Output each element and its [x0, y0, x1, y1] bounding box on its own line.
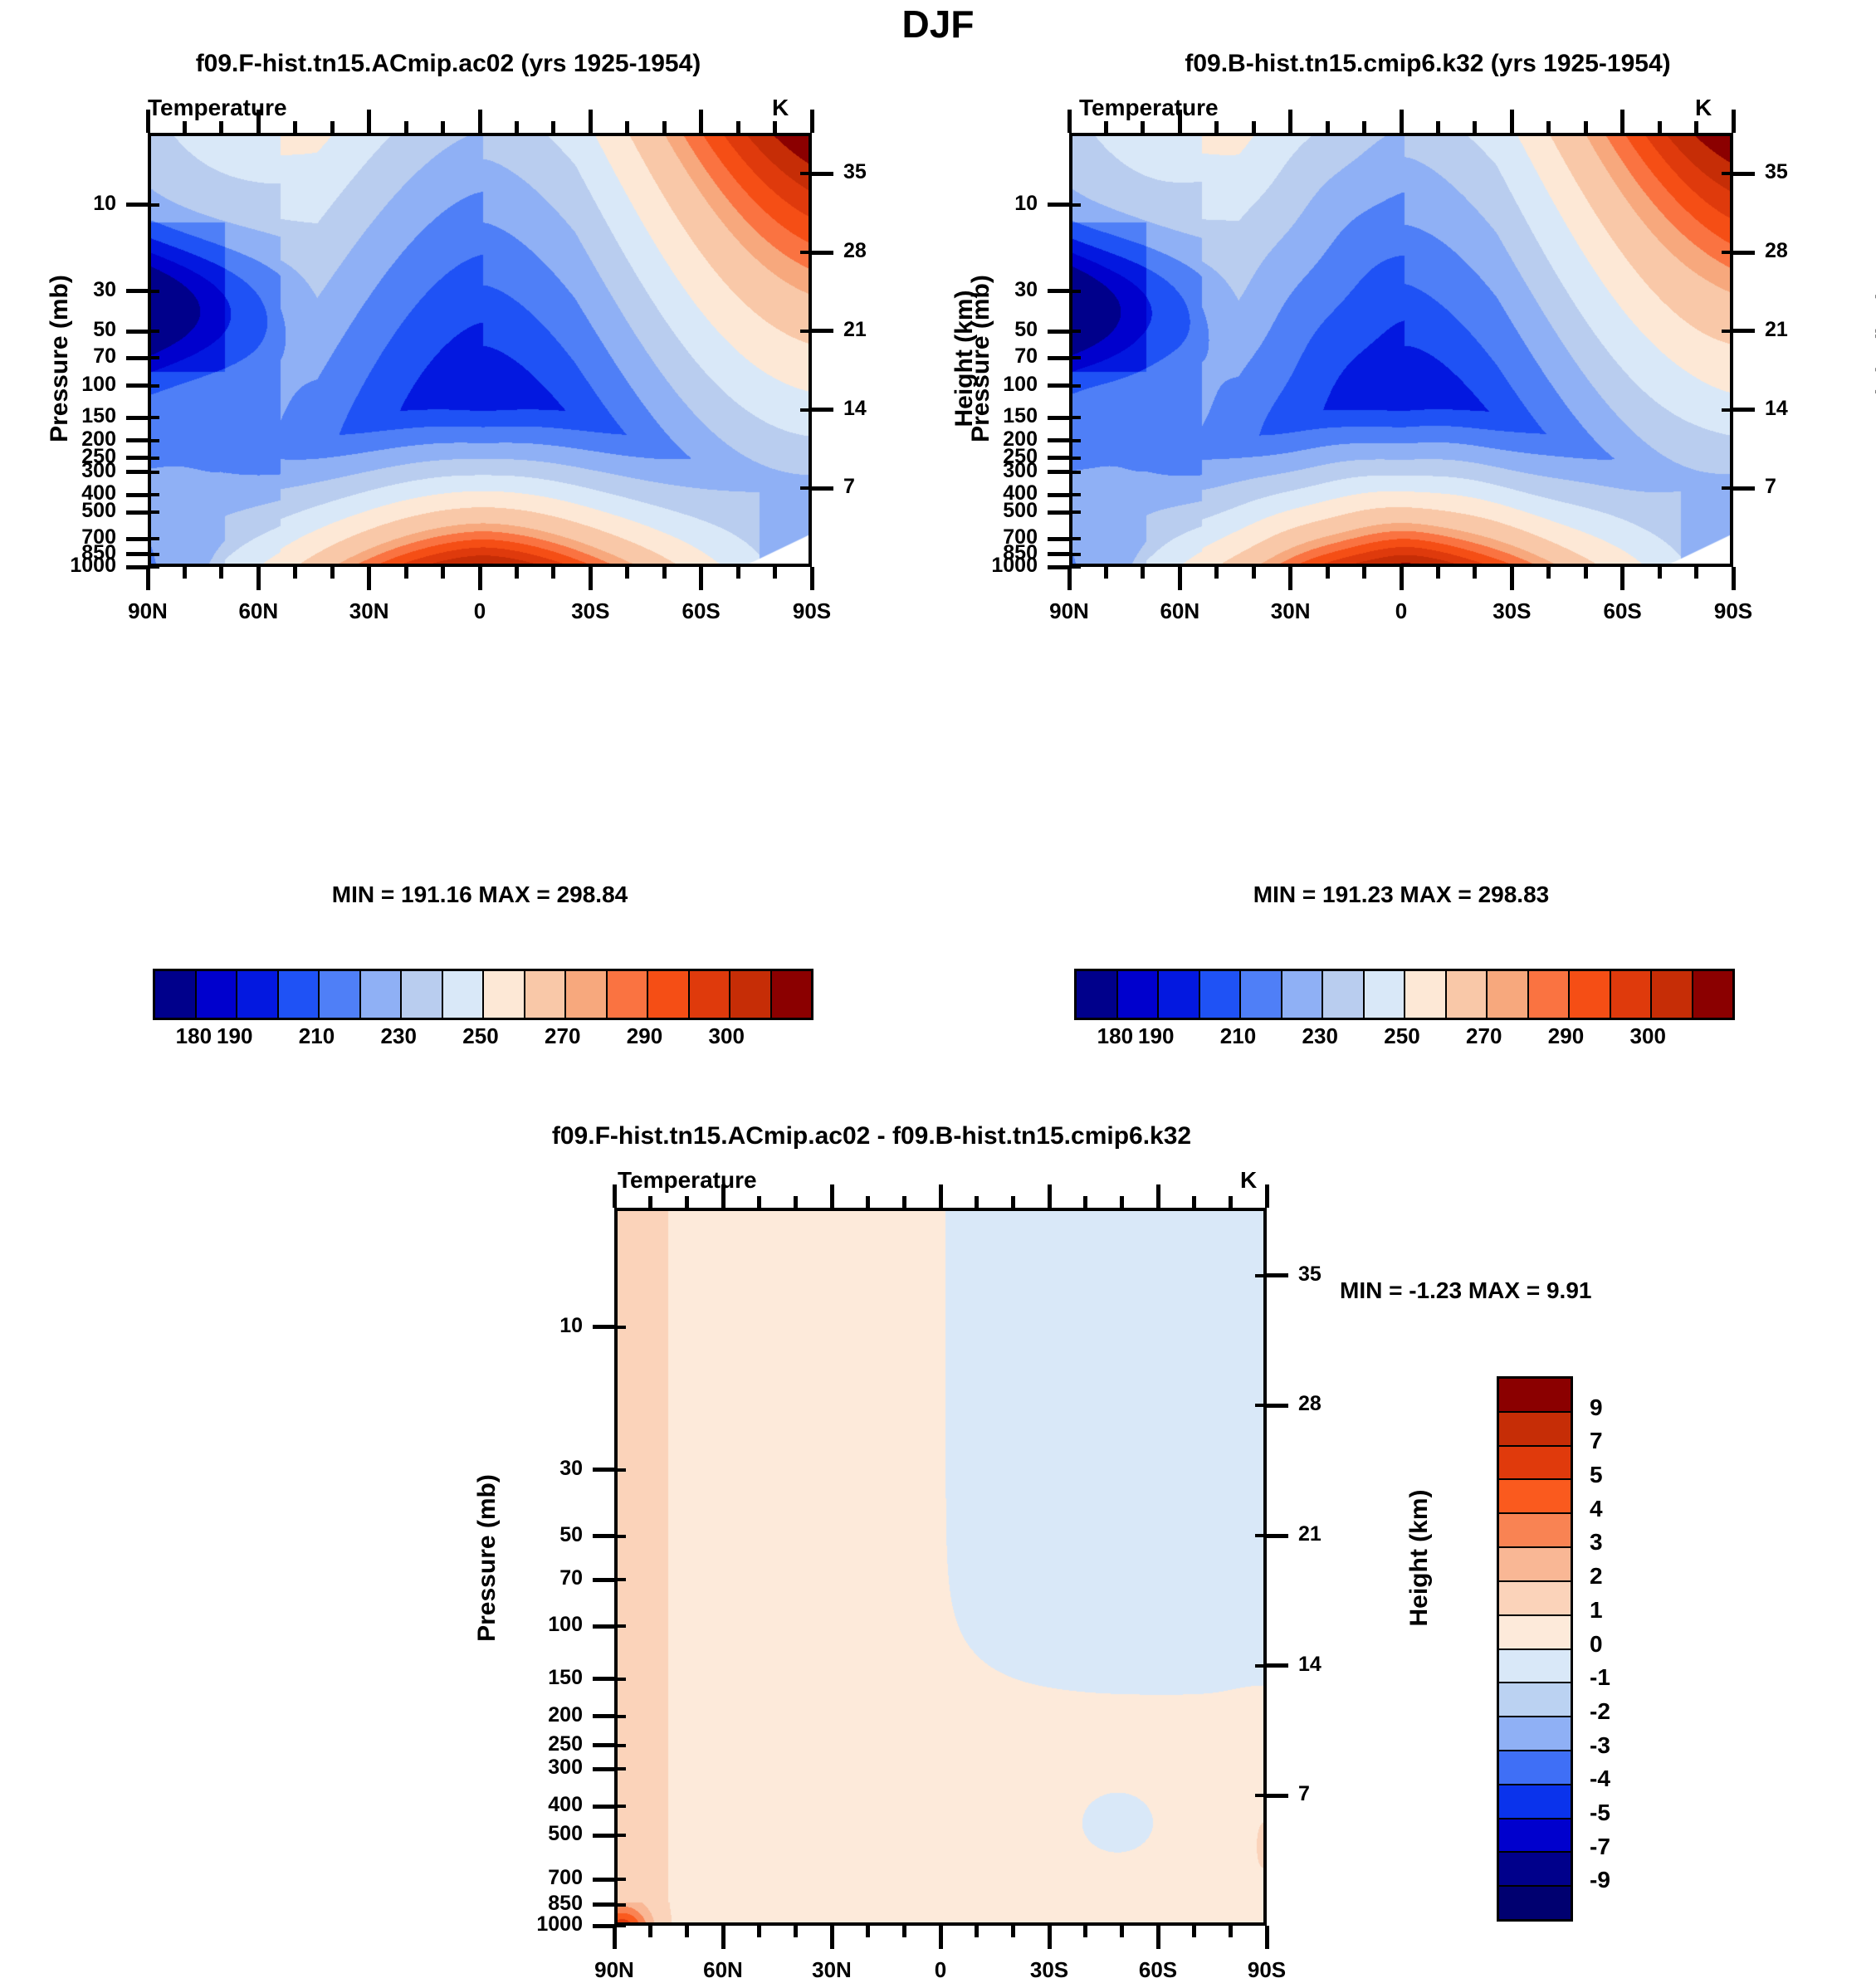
right-pressure-tick-label: 700	[911, 525, 1038, 549]
right-lat-tick-label: 90N	[1003, 598, 1136, 624]
left-colorbar[interactable]	[153, 969, 813, 1020]
left-lat-tick-label: 30N	[303, 598, 436, 624]
colorbar-tick-label: 250	[1357, 1023, 1448, 1049]
left-lat-tick	[146, 567, 150, 590]
right-pressure-axis-label: Pressure (mb)	[967, 234, 995, 483]
right-lat-top-tick	[1546, 121, 1551, 133]
diff-lat-tick	[939, 1926, 943, 1949]
left-lat-tick	[183, 567, 187, 579]
diff-lat-tick-label: 60S	[1092, 1957, 1224, 1983]
colorbar-swatch	[1499, 1480, 1571, 1514]
right-variable-label: Temperature	[1079, 95, 1219, 121]
right-colorbar-labels: 180190210230250270290300	[1074, 1023, 1730, 1057]
left-lat-tick	[662, 567, 667, 579]
right-lat-tick	[1510, 567, 1514, 590]
left-pressure-tick	[126, 470, 148, 474]
right-pressure-tick-label: 10	[911, 192, 1038, 216]
colorbar-tick-label: 210	[1193, 1023, 1283, 1049]
colorbar-swatch	[1499, 1582, 1571, 1616]
diff-lat-tick	[648, 1926, 652, 1937]
right-lat-tick	[1067, 567, 1072, 590]
diff-lat-tick	[794, 1926, 798, 1937]
diff-pressure-tick	[593, 1902, 614, 1907]
left-lat-top-tick	[589, 110, 593, 133]
left-panel-title: f09.F-hist.tn15.ACmip.ac02 (yrs 1925-195…	[50, 50, 847, 78]
right-lat-top-tick	[1362, 121, 1366, 133]
colorbar-swatch	[1282, 971, 1324, 1018]
diff-pressure-tick	[593, 1468, 614, 1472]
left-contour-plot[interactable]	[148, 133, 812, 567]
right-minmax: MIN = 191.23 MAX = 298.83	[1069, 882, 1733, 908]
diff-pressure-tick-label: 500	[457, 1822, 583, 1846]
right-lat-tick	[1400, 567, 1404, 590]
right-pressure-tick	[1048, 383, 1069, 388]
right-pressure-tick	[1048, 203, 1069, 207]
left-lat-tick	[441, 567, 445, 579]
left-pressure-tick	[126, 416, 148, 420]
left-height-tick	[812, 172, 833, 176]
colorbar-swatch	[1159, 971, 1200, 1018]
diff-pressure-tick-label: 850	[457, 1892, 583, 1916]
left-lat-tick	[330, 567, 335, 579]
colorbar-tick-label: -7	[1590, 1834, 1610, 1860]
colorbar-swatch	[566, 971, 608, 1018]
right-height-tick	[1733, 329, 1755, 333]
diff-pressure-tick	[593, 1834, 614, 1838]
left-lat-tick	[293, 567, 297, 579]
diff-lat-tick	[721, 1926, 725, 1949]
colorbar-tick-label: -2	[1590, 1698, 1610, 1725]
diff-lat-top-tick	[939, 1184, 943, 1208]
left-lat-top-tick	[551, 121, 555, 133]
diff-pressure-tick	[593, 1767, 614, 1771]
right-lat-tick	[1584, 567, 1588, 579]
right-lat-top-tick	[1436, 121, 1440, 133]
diff-lat-top-tick	[685, 1196, 689, 1208]
right-lat-tick-label: 0	[1335, 598, 1468, 624]
right-height-tick	[1733, 172, 1755, 176]
left-height-tick-label: 28	[843, 239, 926, 263]
left-lat-top-tick	[515, 121, 519, 133]
right-lat-top-tick	[1694, 121, 1698, 133]
left-lat-top-tick	[219, 121, 223, 133]
right-lat-tick	[1141, 567, 1145, 579]
right-pressure-tick	[1048, 356, 1069, 360]
right-height-tick	[1733, 408, 1755, 412]
right-height-tick-label: 7	[1765, 475, 1848, 499]
colorbar-tick-label: 300	[1603, 1023, 1693, 1049]
colorbar-swatch	[1447, 971, 1488, 1018]
diff-lat-tick	[1156, 1926, 1160, 1949]
left-lat-tick	[810, 567, 814, 590]
diff-lat-tick	[1229, 1926, 1233, 1937]
diff-height-tick	[1267, 1404, 1288, 1408]
left-lat-top-tick	[736, 121, 740, 133]
diff-pressure-tick	[593, 1805, 614, 1809]
colorbar-swatch	[1499, 1819, 1571, 1854]
diff-height-tick	[1267, 1534, 1288, 1538]
colorbar-tick-label: 7	[1590, 1428, 1603, 1454]
colorbar-swatch	[1499, 1447, 1571, 1481]
left-lat-tick	[256, 567, 261, 590]
diff-lat-top-tick	[1265, 1184, 1269, 1208]
right-pressure-tick	[1048, 416, 1069, 420]
left-lat-top-tick	[293, 121, 297, 133]
colorbar-swatch	[1499, 1514, 1571, 1548]
left-height-tick	[812, 486, 833, 491]
colorbar-swatch	[1200, 971, 1242, 1018]
left-lat-tick	[478, 567, 482, 590]
right-contour-plot[interactable]	[1069, 133, 1733, 567]
colorbar-swatch	[608, 971, 649, 1018]
diff-pressure-tick-label: 300	[457, 1756, 583, 1780]
left-lat-tick	[625, 567, 629, 579]
left-lat-tick	[589, 567, 593, 590]
colorbar-tick-label: 230	[354, 1023, 444, 1049]
diff-lat-tick-label: 30S	[983, 1957, 1116, 1983]
right-lat-top-tick	[1510, 110, 1514, 133]
right-lat-top-tick	[1288, 110, 1292, 133]
left-pressure-tick	[126, 383, 148, 388]
diff-lat-tick	[757, 1926, 761, 1937]
left-units-label: K	[772, 95, 789, 121]
diff-height-tick-label: 28	[1298, 1392, 1381, 1416]
diff-pressure-tick	[593, 1534, 614, 1538]
diff-lat-top-tick	[902, 1196, 906, 1208]
left-height-tick-label: 7	[843, 475, 926, 499]
left-height-tick-label: 35	[843, 160, 926, 184]
colorbar-swatch	[443, 971, 485, 1018]
diff-lat-top-tick	[830, 1184, 834, 1208]
right-lat-tick	[1658, 567, 1662, 579]
left-lat-tick	[699, 567, 703, 590]
colorbar-swatch	[1652, 971, 1693, 1018]
colorbar-swatch	[1499, 1853, 1571, 1887]
right-lat-top-tick	[1620, 110, 1624, 133]
diff-pressure-tick	[593, 1714, 614, 1718]
diff-lat-tick	[902, 1926, 906, 1937]
diff-pressure-tick-label: 700	[457, 1866, 583, 1890]
left-lat-top-tick	[478, 110, 482, 133]
left-height-tick	[812, 329, 833, 333]
colorbar-tick-label: 270	[1439, 1023, 1529, 1049]
colorbar-swatch	[1499, 1683, 1571, 1717]
left-lat-tick	[367, 567, 371, 590]
right-lat-top-tick	[1104, 121, 1108, 133]
colorbar-tick-label: -5	[1590, 1800, 1610, 1826]
colorbar-swatch	[1499, 1616, 1571, 1650]
left-height-tick	[812, 251, 833, 255]
colorbar-swatch	[1570, 971, 1611, 1018]
left-lat-tick-label: 90S	[745, 598, 878, 624]
colorbar-swatch	[1323, 971, 1365, 1018]
colorbar-swatch	[1077, 971, 1118, 1018]
colorbar-tick-label: 190	[1111, 1023, 1201, 1049]
right-lat-tick-label: 30N	[1224, 598, 1357, 624]
left-pressure-tick-label: 850	[0, 541, 116, 565]
diff-height-tick	[1267, 1273, 1288, 1277]
left-pressure-tick-label: 1000	[0, 554, 116, 578]
colorbar-tick-label: 250	[436, 1023, 526, 1049]
diff-lat-top-tick	[648, 1196, 652, 1208]
right-lat-tick-label: 60N	[1113, 598, 1246, 624]
right-pressure-tick	[1048, 493, 1069, 497]
right-colorbar[interactable]	[1074, 969, 1735, 1020]
colorbar-swatch	[525, 971, 567, 1018]
diff-lat-top-tick	[1048, 1184, 1052, 1208]
diff-variable-label: Temperature	[618, 1167, 757, 1194]
right-lat-tick	[1326, 567, 1330, 579]
colorbar-swatch	[197, 971, 238, 1018]
right-lat-tick	[1178, 567, 1182, 590]
right-pressure-tick-label: 850	[911, 541, 1038, 565]
colorbar-swatch	[690, 971, 731, 1018]
diff-units-label: K	[1240, 1167, 1257, 1194]
right-lat-tick	[1362, 567, 1366, 579]
diff-height-tick	[1267, 1794, 1288, 1798]
colorbar-swatch	[1405, 971, 1447, 1018]
right-height-tick	[1733, 251, 1755, 255]
right-lat-tick	[1436, 567, 1440, 579]
right-lat-top-tick	[1400, 110, 1404, 133]
colorbar-swatch	[1499, 1379, 1571, 1413]
left-lat-tick-label: 60S	[635, 598, 768, 624]
diff-pressure-tick-label: 1000	[457, 1912, 583, 1937]
right-lat-tick	[1732, 567, 1736, 590]
diff-pressure-tick	[593, 1677, 614, 1681]
right-pressure-tick	[1048, 565, 1069, 569]
diff-lat-tick	[1011, 1926, 1015, 1937]
right-pressure-tick	[1048, 510, 1069, 515]
right-lat-tick	[1473, 567, 1477, 579]
diff-lat-top-tick	[794, 1196, 798, 1208]
left-pressure-tick-label: 700	[0, 525, 116, 549]
right-height-tick	[1733, 486, 1755, 491]
diff-pressure-tick	[593, 1325, 614, 1329]
diff-colorbar[interactable]	[1497, 1376, 1573, 1922]
diff-lat-top-tick	[1192, 1196, 1196, 1208]
right-lat-tick	[1214, 567, 1219, 579]
colorbar-tick-label: 2	[1590, 1563, 1603, 1590]
right-lat-tick	[1620, 567, 1624, 590]
diff-pressure-tick	[593, 1743, 614, 1747]
right-lat-top-tick	[1252, 121, 1256, 133]
colorbar-tick-label: -9	[1590, 1867, 1610, 1893]
right-lat-top-tick	[1473, 121, 1477, 133]
left-lat-tick	[515, 567, 519, 579]
left-lat-top-tick	[330, 121, 335, 133]
left-pressure-tick	[126, 330, 148, 334]
diff-lat-tick	[1120, 1926, 1124, 1937]
diff-contour-plot[interactable]	[614, 1208, 1267, 1926]
right-pressure-tick-label: 1000	[911, 554, 1038, 578]
diff-lat-tick	[685, 1926, 689, 1937]
diff-pressure-tick-label: 200	[457, 1703, 583, 1727]
right-lat-top-tick	[1141, 121, 1145, 133]
right-height-tick-label: 35	[1765, 160, 1848, 184]
left-lat-tick	[551, 567, 555, 579]
colorbar-tick-label: -3	[1590, 1732, 1610, 1759]
left-pressure-tick	[126, 537, 148, 541]
left-lat-tick-label: 0	[413, 598, 546, 624]
colorbar-tick-label: -4	[1590, 1766, 1610, 1792]
right-pressure-tick	[1048, 330, 1069, 334]
diff-lat-tick	[613, 1926, 617, 1949]
page-title: DJF	[0, 2, 1876, 46]
colorbar-swatch	[361, 971, 403, 1018]
diff-pressure-tick	[593, 1578, 614, 1582]
left-height-tick	[812, 408, 833, 412]
diff-lat-top-tick	[975, 1196, 979, 1208]
left-lat-tick-label: 30S	[524, 598, 657, 624]
diff-lat-tick-label: 60N	[657, 1957, 789, 1983]
colorbar-tick-label: 5	[1590, 1462, 1603, 1488]
left-height-tick-label: 21	[843, 318, 926, 342]
right-pressure-tick-label: 400	[911, 481, 1038, 506]
colorbar-swatch	[772, 971, 812, 1018]
right-height-axis-label: Height (km)	[1872, 234, 1876, 483]
right-lat-tick	[1288, 567, 1292, 590]
colorbar-swatch	[279, 971, 320, 1018]
right-units-label: K	[1695, 95, 1712, 121]
colorbar-swatch	[1499, 1887, 1571, 1919]
diff-pressure-tick	[593, 1624, 614, 1629]
diff-pressure-tick-label: 10	[457, 1314, 583, 1338]
diff-lat-tick	[866, 1926, 870, 1937]
right-lat-top-tick	[1732, 110, 1736, 133]
diff-lat-tick-label: 90N	[548, 1957, 681, 1983]
right-lat-tick	[1104, 567, 1108, 579]
diff-pressure-tick	[593, 1878, 614, 1882]
right-lat-top-tick	[1067, 110, 1072, 133]
colorbar-swatch	[1499, 1785, 1571, 1819]
colorbar-swatch	[1488, 971, 1529, 1018]
diff-pressure-tick-label: 400	[457, 1793, 583, 1817]
colorbar-tick-label: 3	[1590, 1529, 1603, 1556]
left-pressure-tick	[126, 493, 148, 497]
left-minmax: MIN = 191.16 MAX = 298.84	[148, 882, 812, 908]
diff-lat-top-tick	[613, 1184, 617, 1208]
diff-lat-top-tick	[757, 1196, 761, 1208]
diff-lat-tick-label: 90S	[1200, 1957, 1333, 1983]
diff-lat-tick	[1265, 1926, 1269, 1949]
colorbar-swatch	[648, 971, 690, 1018]
colorbar-swatch	[1499, 1548, 1571, 1582]
diff-lat-top-tick	[866, 1196, 870, 1208]
diff-height-axis-label: Height (km)	[1405, 1434, 1434, 1683]
diff-lat-tick-label: 30N	[765, 1957, 898, 1983]
left-pressure-tick	[126, 438, 148, 442]
colorbar-swatch	[402, 971, 443, 1018]
diff-lat-tick	[1048, 1926, 1052, 1949]
left-variable-label: Temperature	[148, 95, 287, 121]
right-lat-top-tick	[1326, 121, 1330, 133]
diff-lat-top-tick	[1083, 1196, 1087, 1208]
diff-panel-title: f09.F-hist.tn15.ACmip.ac02 - f09.B-hist.…	[315, 1122, 1428, 1150]
left-lat-tick	[404, 567, 408, 579]
left-pressure-tick-label: 10	[0, 192, 116, 216]
colorbar-swatch	[1365, 971, 1406, 1018]
left-lat-top-tick	[183, 121, 187, 133]
right-lat-top-tick	[1584, 121, 1588, 133]
diff-pressure-axis-label: Pressure (mb)	[473, 1434, 501, 1683]
right-panel-title: f09.B-hist.tn15.cmip6.k32 (yrs 1925-1954…	[1029, 50, 1826, 78]
colorbar-tick-label: 190	[189, 1023, 280, 1049]
diff-lat-tick	[1083, 1926, 1087, 1937]
colorbar-swatch	[1499, 1650, 1571, 1684]
right-pressure-tick	[1048, 289, 1069, 293]
right-height-tick-label: 14	[1765, 397, 1848, 421]
diff-colorbar-labels: 97543210-1-2-3-4-5-7-9	[1578, 1376, 1661, 1917]
colorbar-swatch	[1499, 1413, 1571, 1447]
left-lat-top-tick	[773, 121, 777, 133]
left-pressure-tick	[126, 289, 148, 293]
diff-lat-tick-label: 0	[874, 1957, 1007, 1983]
diff-height-tick-label: 14	[1298, 1653, 1381, 1677]
right-lat-tick-label: 60S	[1556, 598, 1689, 624]
diff-minmax: MIN = -1.23 MAX = 9.91	[1340, 1277, 1591, 1304]
colorbar-swatch	[1118, 971, 1160, 1018]
colorbar-tick-label: 230	[1275, 1023, 1365, 1049]
diff-lat-tick	[975, 1926, 979, 1937]
left-lat-tick	[736, 567, 740, 579]
left-lat-top-tick	[810, 110, 814, 133]
diff-pressure-tick-label: 250	[457, 1732, 583, 1756]
colorbar-tick-label: 290	[1521, 1023, 1611, 1049]
colorbar-tick-label: -1	[1590, 1664, 1610, 1691]
left-pressure-tick	[126, 552, 148, 556]
colorbar-tick-label: 1	[1590, 1597, 1603, 1624]
right-pressure-tick	[1048, 438, 1069, 442]
colorbar-swatch	[1693, 971, 1733, 1018]
diff-lat-top-tick	[1120, 1196, 1124, 1208]
colorbar-swatch	[237, 971, 279, 1018]
left-pressure-tick	[126, 203, 148, 207]
diff-height-tick-label: 21	[1298, 1522, 1381, 1546]
right-lat-tick-label: 30S	[1445, 598, 1578, 624]
diff-lat-top-tick	[1229, 1196, 1233, 1208]
diff-lat-top-tick	[1156, 1184, 1160, 1208]
colorbar-tick-label: 270	[517, 1023, 608, 1049]
right-pressure-tick	[1048, 552, 1069, 556]
right-height-tick-label: 28	[1765, 239, 1848, 263]
right-lat-top-tick	[1658, 121, 1662, 133]
diff-height-tick	[1267, 1663, 1288, 1668]
right-pressure-tick-label: 500	[911, 499, 1038, 523]
left-pressure-tick-label: 400	[0, 481, 116, 506]
left-pressure-tick	[126, 356, 148, 360]
colorbar-swatch	[1529, 971, 1571, 1018]
left-pressure-tick-label: 500	[0, 499, 116, 523]
left-pressure-tick	[126, 456, 148, 460]
colorbar-swatch	[730, 971, 772, 1018]
left-lat-tick	[773, 567, 777, 579]
diff-height-tick-label: 7	[1298, 1782, 1381, 1806]
colorbar-tick-label: 300	[682, 1023, 772, 1049]
left-lat-top-tick	[367, 110, 371, 133]
colorbar-tick-label: 210	[271, 1023, 362, 1049]
right-lat-tick	[1694, 567, 1698, 579]
left-lat-tick-label: 90N	[81, 598, 214, 624]
colorbar-swatch	[155, 971, 197, 1018]
colorbar-tick-label: 0	[1590, 1631, 1603, 1658]
colorbar-swatch	[1499, 1717, 1571, 1751]
left-lat-tick	[219, 567, 223, 579]
left-pressure-tick	[126, 565, 148, 569]
diff-pressure-tick	[593, 1924, 614, 1928]
right-lat-tick	[1546, 567, 1551, 579]
colorbar-tick-label: 290	[599, 1023, 690, 1049]
